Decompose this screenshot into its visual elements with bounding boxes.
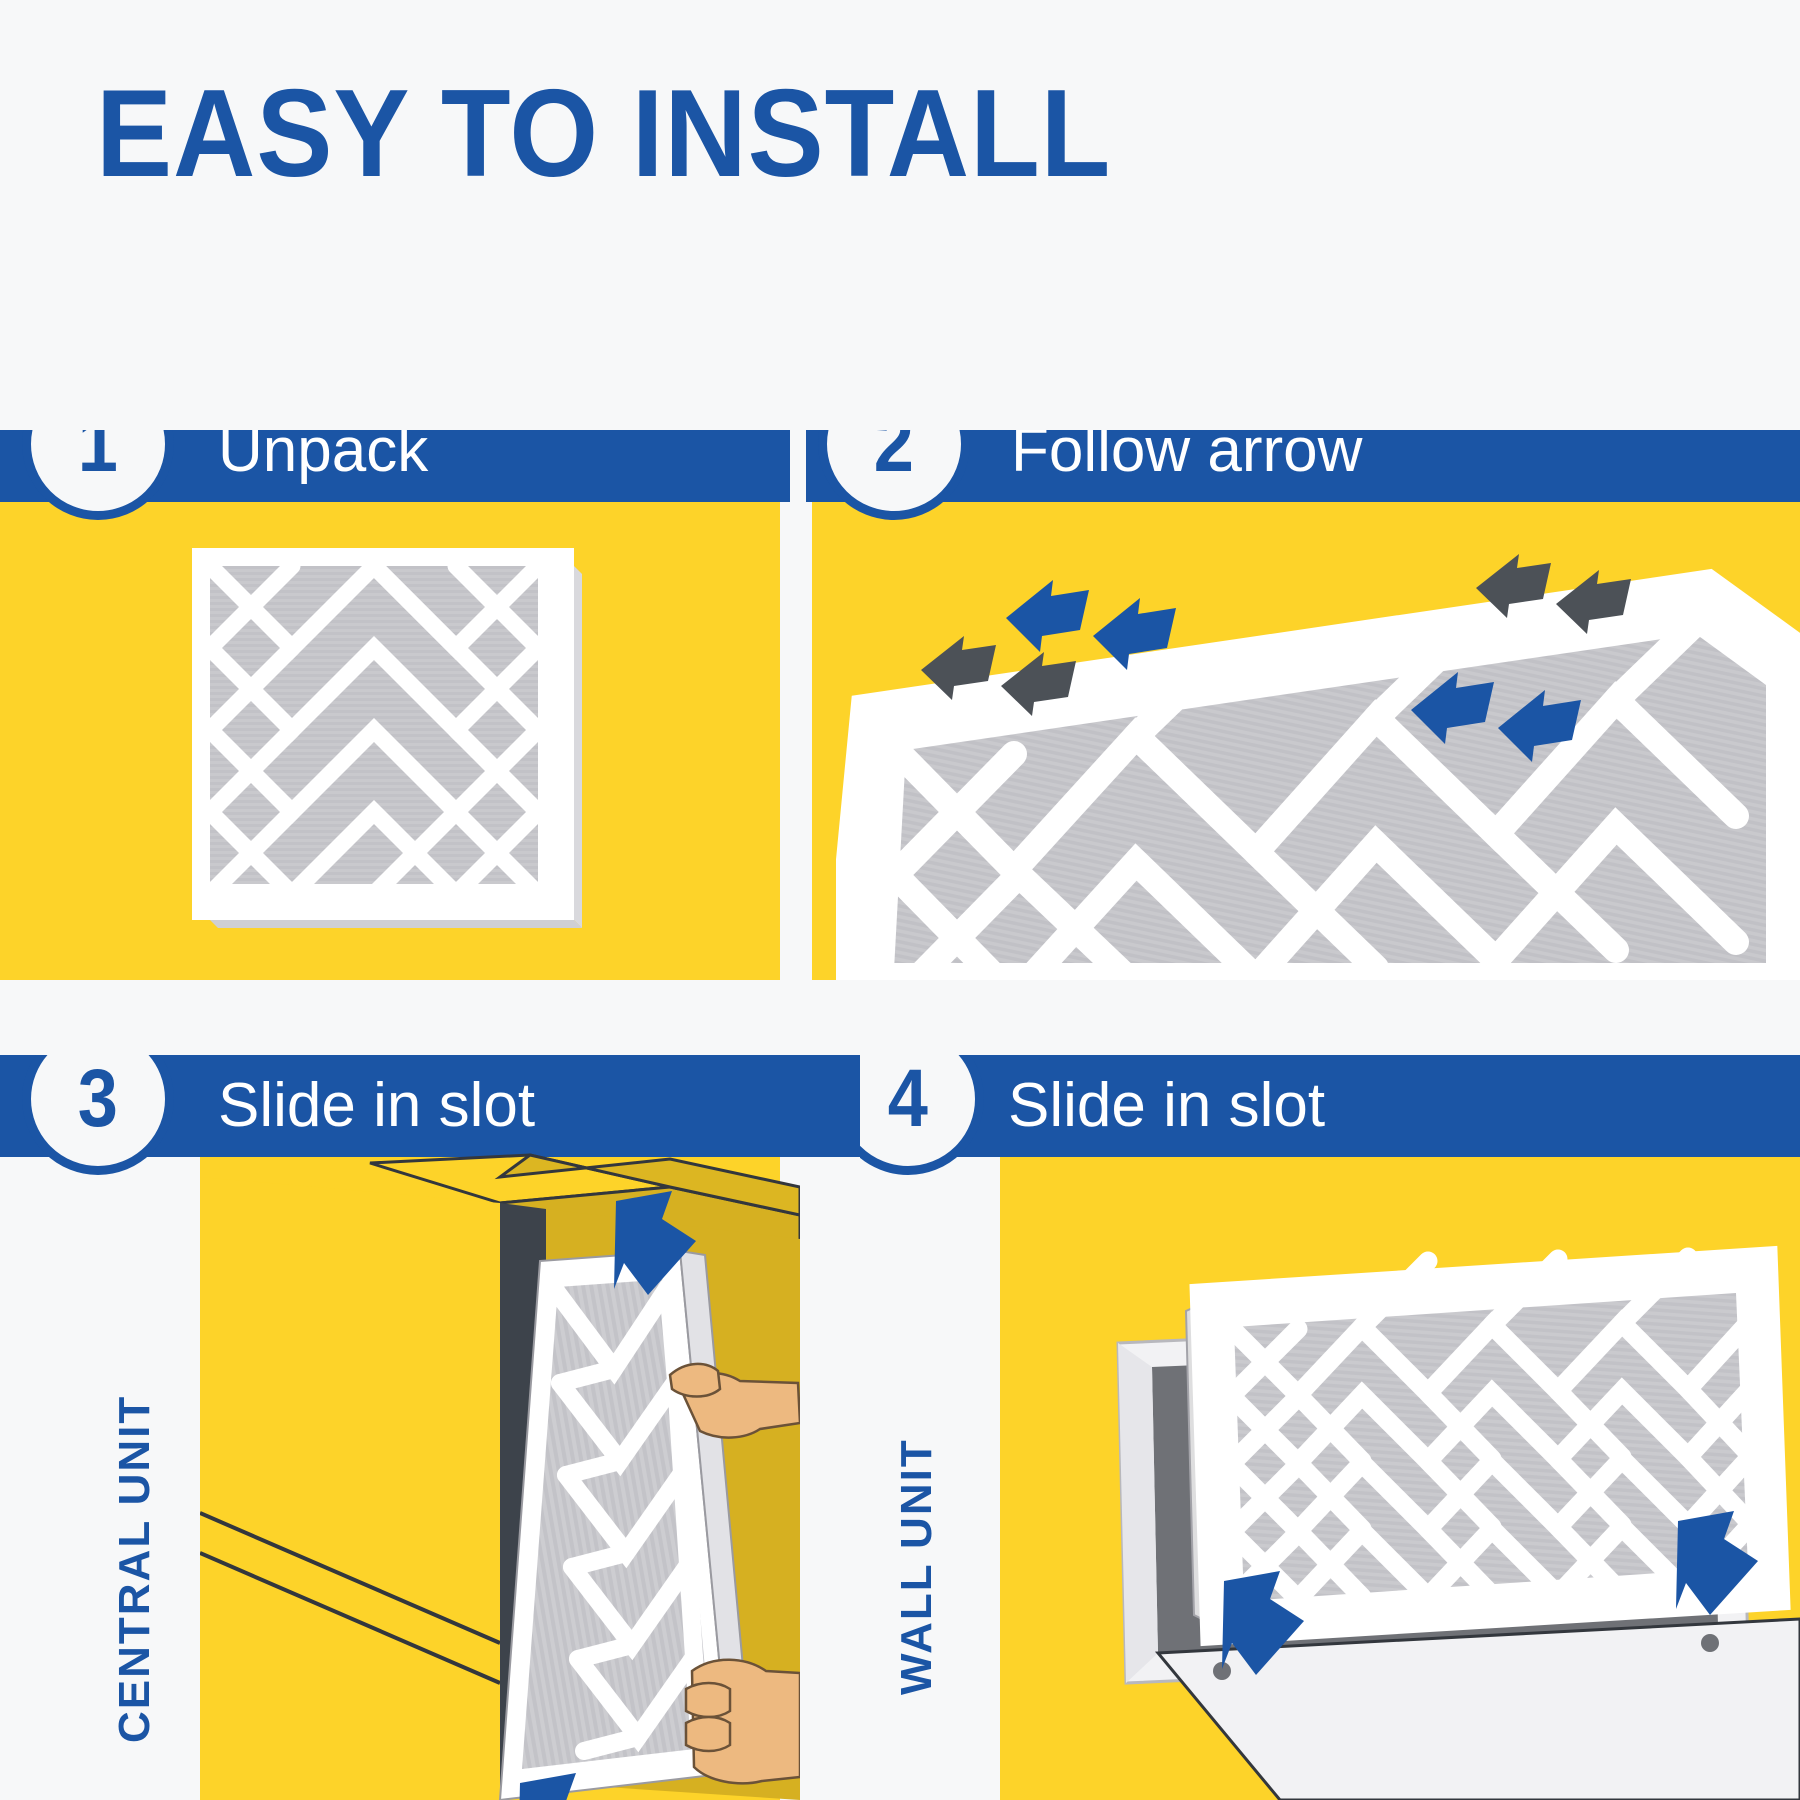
step-4-label: Slide in slot [1008,1071,1325,1141]
infographic-canvas: EASY TO INSTALL [0,0,1800,1800]
screw-hole-left [1213,1662,1231,1680]
blue-airflow-arrow-pair-right [1406,652,1606,762]
step-panel-4: 4 Slide in slot WALL UNIT [860,1055,1800,1800]
step-3-number: 3 [78,1058,118,1140]
filter-illustration-2 [836,540,1800,980]
page-title: EASY TO INSTALL [96,72,1111,196]
step-4-number: 4 [888,1058,928,1140]
hand-lower [686,1660,800,1784]
step-panel-3: 3 Slide in slot CENTRAL UNIT [0,1055,860,1800]
blue-airflow-arrow-pair-left [1001,560,1201,670]
filter-illustration-1 [192,548,582,928]
step-1-label: Unpack [218,430,428,486]
step-3-number-badge: 3 [22,1055,174,1175]
central-unit-illustration [200,1083,800,1800]
step-panel-2: 2 Follow arrow [806,430,1800,980]
screw-hole-right [1701,1634,1719,1652]
side-label-wall-unit: WALL UNIT [892,1438,942,1695]
side-label-central-unit: CENTRAL UNIT [110,1395,160,1743]
step-3-label: Slide in slot [218,1071,535,1141]
step-4-number-badge: 4 [860,1055,984,1175]
step-2-number: 2 [874,430,914,485]
step-2-label: Follow arrow [1011,430,1362,486]
step-panel-1: 1 Unpack [0,430,790,980]
wall-unit-illustration [1100,1115,1800,1800]
step-1-number: 1 [78,430,118,485]
